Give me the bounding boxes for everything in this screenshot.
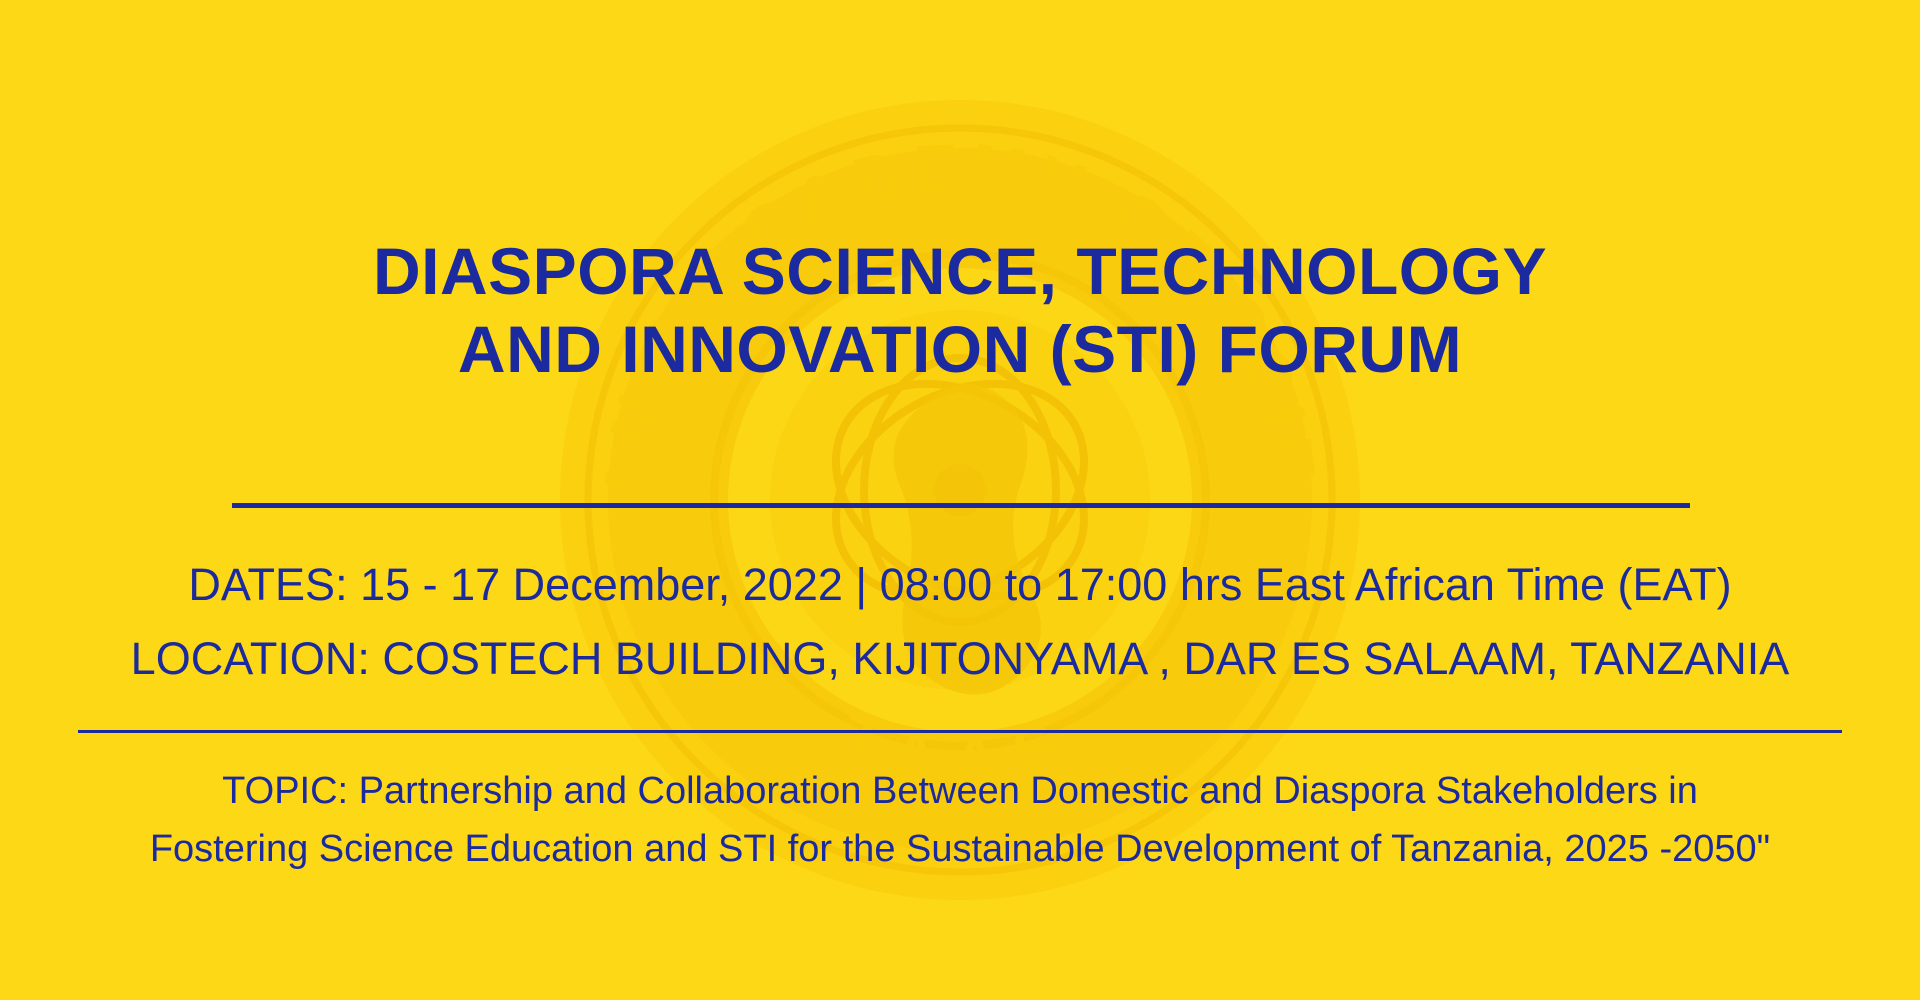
divider-top <box>232 503 1690 508</box>
divider-bottom <box>78 730 1842 733</box>
topic-line-1: TOPIC: Partnership and Collaboration Bet… <box>0 762 1920 820</box>
title-line-2: AND INNOVATION (STI) FORUM <box>0 310 1920 388</box>
event-dates: DATES: 15 - 17 December, 2022 | 08:00 to… <box>0 558 1920 612</box>
title-line-1: DIASPORA SCIENCE, TECHNOLOGY <box>0 232 1920 310</box>
event-topic: TOPIC: Partnership and Collaboration Bet… <box>0 762 1920 878</box>
event-location: LOCATION: COSTECH BUILDING, KIJITONYAMA … <box>0 632 1920 686</box>
page-title: DIASPORA SCIENCE, TECHNOLOGY AND INNOVAT… <box>0 232 1920 388</box>
topic-line-2: Fostering Science Education and STI for … <box>0 820 1920 878</box>
event-banner: TANZANIA ACADEMY OF SCIENCES TAAS DIASPO… <box>0 0 1920 1000</box>
